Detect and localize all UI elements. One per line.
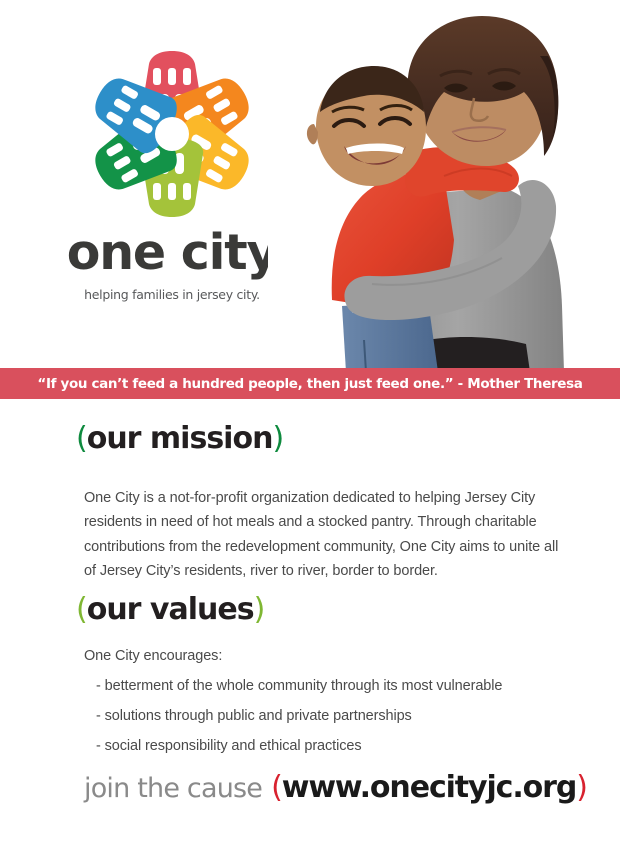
values-list: - betterment of the whole community thro…: [96, 671, 576, 761]
cta-lead-text: join the cause: [84, 773, 262, 804]
list-item: - betterment of the whole community thro…: [96, 671, 576, 701]
brand-logo-block: one city helping families in jersey city…: [62, 46, 282, 302]
list-item: - solutions through public and private p…: [96, 701, 576, 731]
cta-paren-close: ): [576, 770, 587, 805]
values-heading-label: our values: [87, 592, 254, 627]
call-to-action: join the cause (www.onecityjc.org): [84, 770, 587, 805]
mission-paren-open: (: [76, 421, 87, 456]
hero-photo: [268, 0, 620, 372]
flower-of-buildings-logo-icon: [82, 46, 262, 224]
mission-heading-label: our mission: [87, 421, 273, 456]
values-intro-text: One City encourages:: [84, 644, 222, 668]
cta-paren-open: (: [271, 770, 282, 805]
quote-text: “If you can’t feed a hundred people, the…: [37, 376, 582, 392]
values-paren-open: (: [76, 592, 87, 627]
mission-paren-close: ): [272, 421, 283, 456]
list-item: - social responsibility and ethical prac…: [96, 731, 576, 761]
mission-body-text: One City is a not-for-profit organizatio…: [84, 486, 568, 584]
brand-tagline: helping families in jersey city.: [62, 287, 282, 302]
hero-section: one city helping families in jersey city…: [0, 0, 620, 368]
cta-url-wrapper[interactable]: (www.onecityjc.org): [271, 770, 587, 805]
quote-banner: “If you can’t feed a hundred people, the…: [0, 368, 620, 399]
cta-url-link[interactable]: www.onecityjc.org: [282, 770, 577, 805]
brand-wordmark: one city: [62, 228, 282, 277]
values-heading: (our values): [76, 595, 264, 625]
values-paren-close: ): [254, 592, 265, 627]
mission-heading: (our mission): [76, 424, 283, 454]
